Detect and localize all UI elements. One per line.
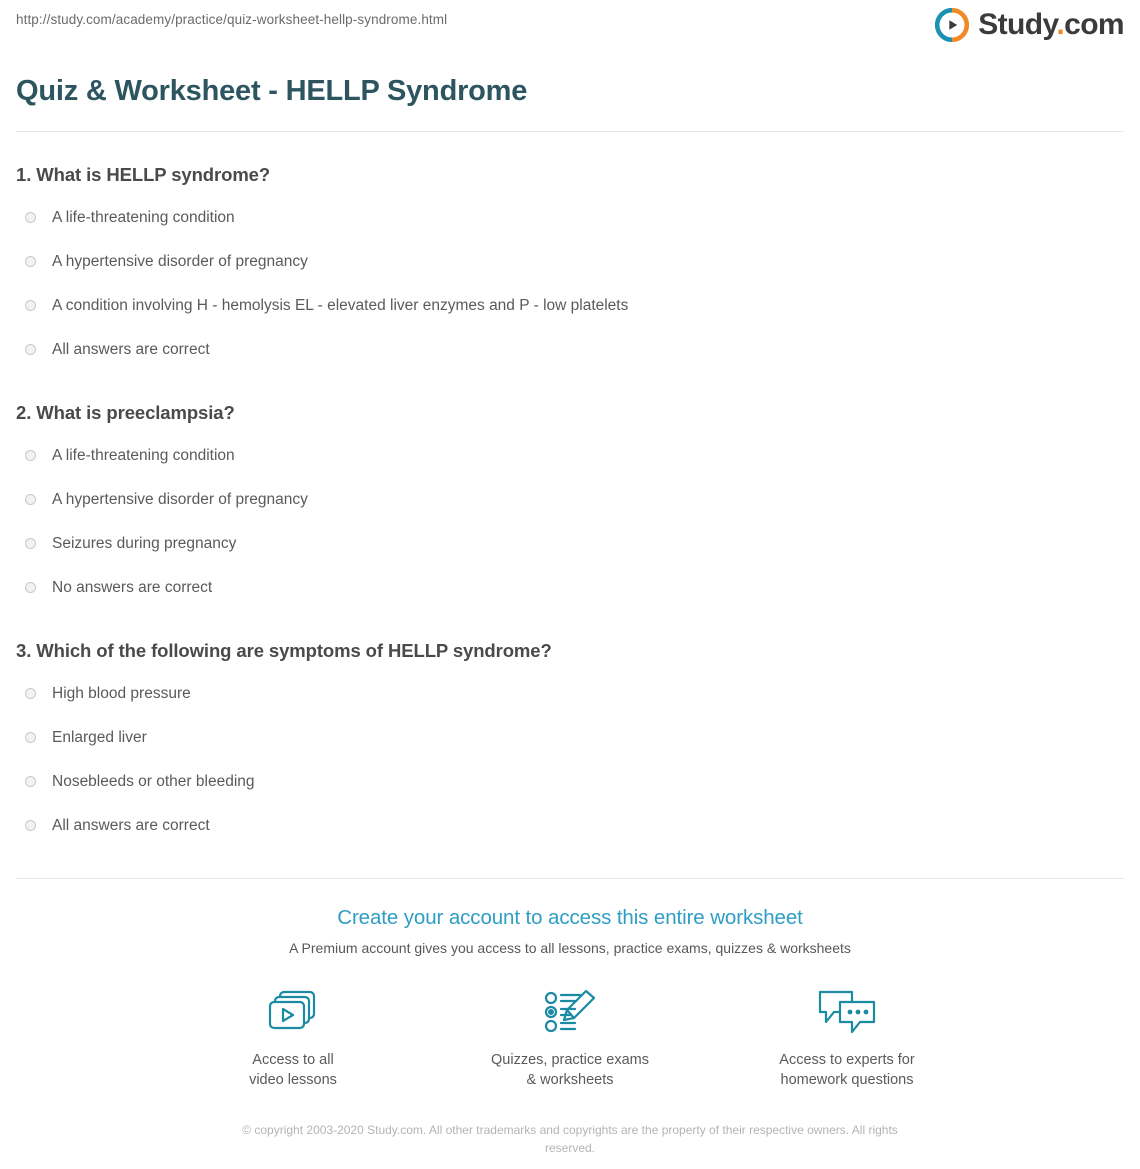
title-divider xyxy=(16,131,1124,132)
answer-label: All answers are correct xyxy=(52,816,210,836)
answer-label: A life-threatening condition xyxy=(52,208,235,228)
answer-option[interactable]: High blood pressure xyxy=(16,672,1124,716)
radio-button-icon[interactable] xyxy=(25,344,36,355)
logo-name: Study xyxy=(978,8,1056,41)
feature-item: Quizzes, practice exams & worksheets xyxy=(475,986,665,1091)
logo-dot: . xyxy=(1056,8,1064,41)
feature-label: Access to all video lessons xyxy=(198,1050,388,1091)
answer-option[interactable]: All answers are correct xyxy=(16,328,1124,372)
radio-button-icon[interactable] xyxy=(25,688,36,699)
answer-option[interactable]: A condition involving H - hemolysis EL -… xyxy=(16,284,1124,328)
feature-item: Access to experts for homework questions xyxy=(752,986,942,1091)
radio-button-icon[interactable] xyxy=(25,212,36,223)
page-title: Quiz & Worksheet - HELLP Syndrome xyxy=(16,74,1124,109)
study-com-logo[interactable]: Study.com xyxy=(935,8,1124,42)
radio-button-icon[interactable] xyxy=(25,820,36,831)
radio-button-icon[interactable] xyxy=(25,582,36,593)
chat-bubbles-icon xyxy=(752,986,942,1038)
answer-option[interactable]: All answers are correct xyxy=(16,804,1124,848)
question-block: 3. Which of the following are symptoms o… xyxy=(16,640,1124,848)
copyright-notice: © copyright 2003-2020 Study.com. All oth… xyxy=(220,1121,920,1157)
page-url: http://study.com/academy/practice/quiz-w… xyxy=(16,12,447,27)
feature-item: Access to all video lessons xyxy=(198,986,388,1091)
answer-label: A hypertensive disorder of pregnancy xyxy=(52,252,308,272)
feature-label: Access to experts for homework questions xyxy=(752,1050,942,1091)
answer-label: A condition involving H - hemolysis EL -… xyxy=(52,296,628,316)
answer-label: Enlarged liver xyxy=(52,728,147,748)
question-title: 3. Which of the following are symptoms o… xyxy=(16,640,1124,662)
answer-label: A life-threatening condition xyxy=(52,446,235,466)
answer-label: No answers are correct xyxy=(52,578,212,598)
answer-option[interactable]: No answers are correct xyxy=(16,566,1124,610)
question-block: 2. What is preeclampsia? A life-threaten… xyxy=(16,402,1124,610)
feature-list: Access to all video lessons Quizzes, pra… xyxy=(0,986,1140,1091)
video-lessons-icon xyxy=(198,986,388,1038)
answer-label: High blood pressure xyxy=(52,684,191,704)
answer-options: High blood pressure Enlarged liver Noseb… xyxy=(16,672,1124,848)
answer-option[interactable]: Seizures during pregnancy xyxy=(16,522,1124,566)
answer-option[interactable]: Enlarged liver xyxy=(16,716,1124,760)
cta-section: Create your account to access this entir… xyxy=(0,879,1140,956)
radio-button-icon[interactable] xyxy=(25,450,36,461)
answer-option[interactable]: A life-threatening condition xyxy=(16,196,1124,240)
radio-button-icon[interactable] xyxy=(25,494,36,505)
radio-button-icon[interactable] xyxy=(25,776,36,787)
answer-label: A hypertensive disorder of pregnancy xyxy=(52,490,308,510)
feature-label: Quizzes, practice exams & worksheets xyxy=(475,1050,665,1091)
play-circle-icon xyxy=(935,8,969,42)
create-account-link[interactable]: Create your account to access this entir… xyxy=(337,906,803,930)
questions-list: 1. What is HELLP syndrome? A life-threat… xyxy=(0,164,1140,848)
answer-option[interactable]: A hypertensive disorder of pregnancy xyxy=(16,240,1124,284)
answer-options: A life-threatening condition A hypertens… xyxy=(16,196,1124,372)
question-block: 1. What is HELLP syndrome? A life-threat… xyxy=(16,164,1124,372)
logo-tld: com xyxy=(1064,8,1124,41)
answer-options: A life-threatening condition A hypertens… xyxy=(16,434,1124,610)
page-header: http://study.com/academy/practice/quiz-w… xyxy=(0,0,1140,60)
answer-option[interactable]: Nosebleeds or other bleeding xyxy=(16,760,1124,804)
answer-label: Seizures during pregnancy xyxy=(52,534,236,554)
cta-subtitle: A Premium account gives you access to al… xyxy=(0,940,1140,956)
answer-option[interactable]: A life-threatening condition xyxy=(16,434,1124,478)
question-title: 1. What is HELLP syndrome? xyxy=(16,164,1124,186)
quiz-pencil-icon xyxy=(475,986,665,1038)
logo-wordmark: Study.com xyxy=(978,10,1124,40)
answer-label: All answers are correct xyxy=(52,340,210,360)
answer-option[interactable]: A hypertensive disorder of pregnancy xyxy=(16,478,1124,522)
radio-button-icon[interactable] xyxy=(25,300,36,311)
radio-button-icon[interactable] xyxy=(25,732,36,743)
question-title: 2. What is preeclampsia? xyxy=(16,402,1124,424)
answer-label: Nosebleeds or other bleeding xyxy=(52,772,255,792)
radio-button-icon[interactable] xyxy=(25,256,36,267)
radio-button-icon[interactable] xyxy=(25,538,36,549)
